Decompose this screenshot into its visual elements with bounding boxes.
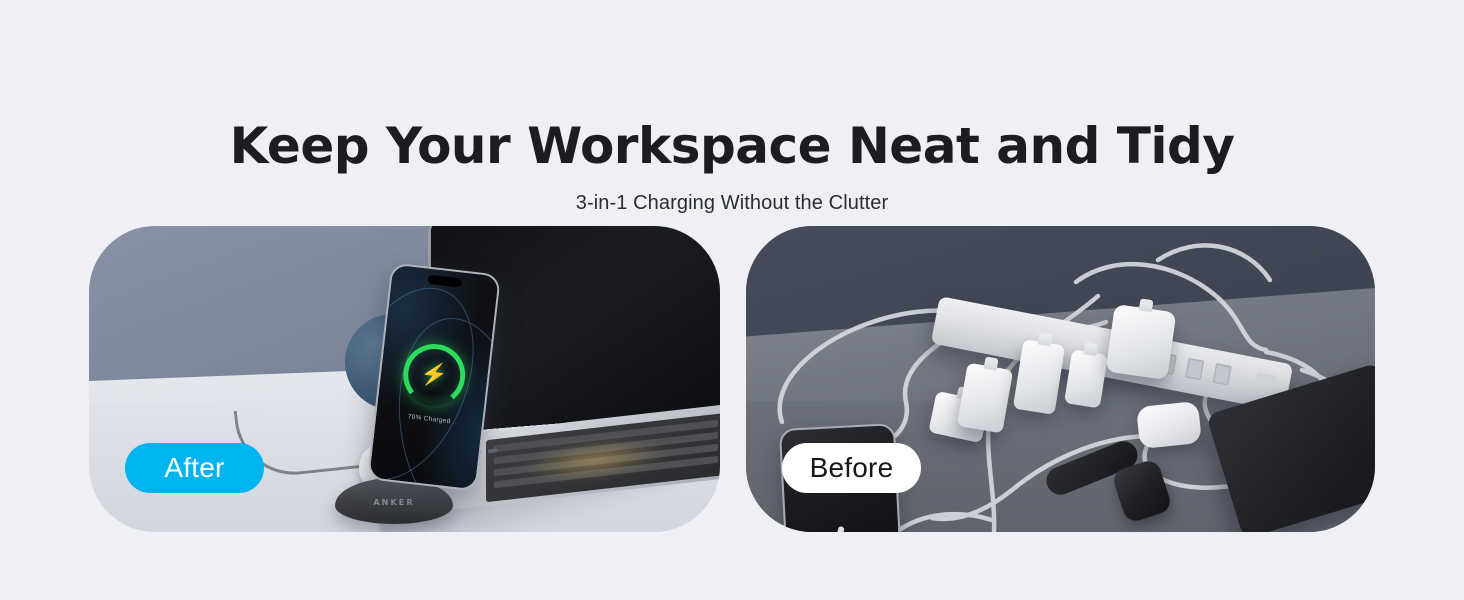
page-subtitle: 3-in-1 Charging Without the Clutter: [0, 192, 1464, 215]
lightning-bolt-icon: ⚡: [419, 363, 449, 388]
brand-logo-text: ANKER: [335, 498, 453, 507]
wall-adapter: [1106, 304, 1177, 380]
badge-after-label: After: [164, 454, 224, 482]
badge-before-label: Before: [810, 454, 894, 482]
earbuds-case: [1136, 401, 1202, 449]
before-after-comparison: ANKER ⚡ 70% Charged After: [89, 226, 1375, 532]
magsafe-charging-stand: ANKER ⚡ 70% Charged: [315, 262, 515, 524]
panel-before[interactable]: Before: [746, 226, 1375, 532]
badge-after[interactable]: After: [125, 443, 264, 493]
header-block: Keep Your Workspace Neat and Tidy 3-in-1…: [0, 118, 1464, 215]
smartphone-on-stand: ⚡ 70% Charged: [367, 262, 501, 491]
badge-before[interactable]: Before: [782, 443, 921, 493]
panel-after[interactable]: ANKER ⚡ 70% Charged After: [89, 226, 720, 532]
page-title: Keep Your Workspace Neat and Tidy: [0, 118, 1464, 174]
power-strip-switch: [1255, 372, 1277, 389]
comparison-banner: Keep Your Workspace Neat and Tidy 3-in-1…: [0, 0, 1464, 600]
